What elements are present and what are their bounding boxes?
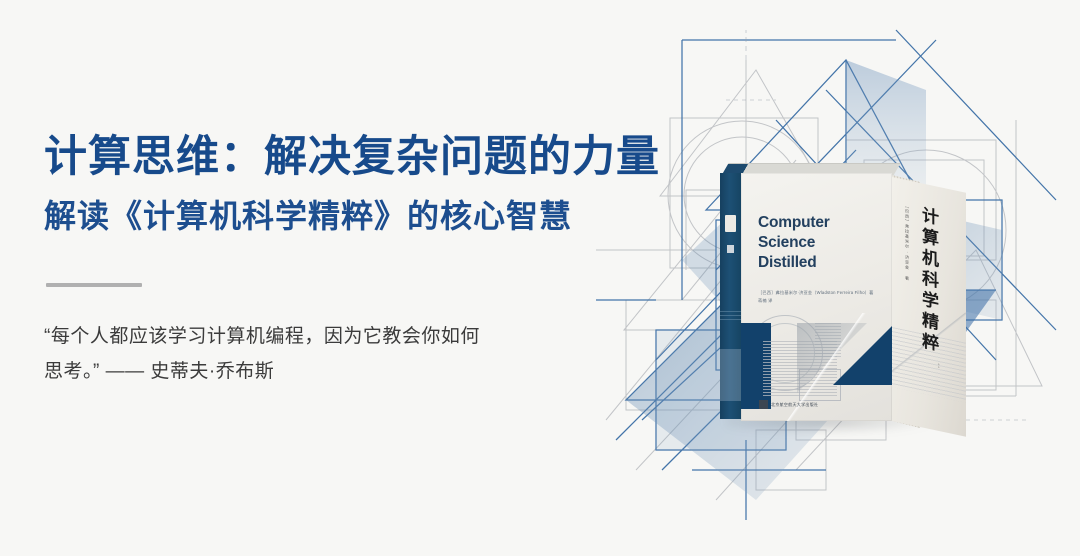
book-english-title-line-1: Computer	[758, 213, 876, 233]
quote-line-1: “每个人都应该学习计算机编程，因为它教会你如何	[44, 319, 664, 354]
book-chinese-authors: ［巴西］弗拉基米尔·济亚金 著	[904, 204, 910, 282]
quote-block: “每个人都应该学习计算机编程，因为它教会你如何 思考。” —— 史蒂夫·乔布斯	[44, 319, 664, 389]
book-english-title: Computer Science Distilled	[758, 213, 876, 272]
spine-dot-mark	[727, 245, 734, 253]
book-front-cover: Computer Science Distilled ［巴西］弗拉基米尔·济亚金…	[741, 173, 892, 421]
publisher-logo-icon	[759, 400, 768, 409]
book-authors: ［巴西］弗拉基米尔·济亚金（Wladston Ferreira Filho）著 …	[758, 289, 878, 305]
book-english-title-line-3: Distilled	[758, 253, 876, 273]
book-chinese-title: 计算机科学精粹	[916, 204, 941, 356]
spine-label-mark	[725, 215, 736, 232]
page-title: 计算思维：解决复杂问题的力量	[44, 132, 664, 183]
headline-block: 计算思维：解决复杂问题的力量 解读《计算机科学精粹》的核心智慧 “每个人都应该学…	[44, 132, 664, 389]
promo-banner: 计算思维：解决复杂问题的力量 解读《计算机科学精粹》的核心智慧 “每个人都应该学…	[0, 0, 1080, 556]
book-authors-line-1: ［巴西］弗拉基米尔·济亚金（Wladston Ferreira Filho）著	[758, 289, 878, 297]
book-authors-line-2: 蒋楠 译	[758, 297, 878, 305]
spine-band	[720, 349, 741, 401]
book-chinese-panel: ［巴西］弗拉基米尔·济亚金 著 计算机科学精粹 ：	[892, 177, 966, 437]
book-spine	[720, 173, 741, 419]
book-chinese-dots: ：	[932, 362, 941, 373]
page-subtitle: 解读《计算机科学精粹》的核心智慧	[44, 197, 664, 235]
book-english-title-line-2: Science	[758, 233, 876, 253]
spine-rule-lines	[720, 311, 741, 321]
book-cover-3d: ［巴西］弗拉基米尔·济亚金 著 计算机科学精粹 ：	[720, 163, 920, 421]
publisher-name: 北京航空航天大学出版社	[771, 402, 818, 408]
geometric-artwork: ［巴西］弗拉基米尔·济亚金 著 计算机科学精粹 ：	[596, 0, 1080, 556]
quote-line-2: 思考。” —— 史蒂夫·乔布斯	[44, 354, 664, 389]
divider	[46, 283, 142, 287]
publisher-block: 北京航空航天大学出版社	[759, 400, 818, 409]
